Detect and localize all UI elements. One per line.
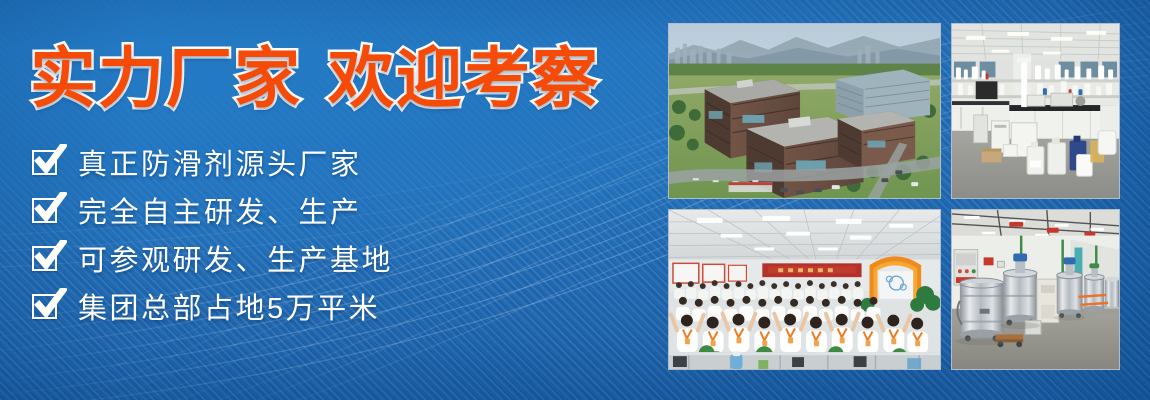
photo-production-workshop[interactable]: [951, 209, 1120, 370]
list-item: 集团总部占地5万平米: [32, 287, 393, 325]
list-item: 完全自主研发、生产: [32, 191, 393, 229]
photo-laboratory[interactable]: [951, 23, 1120, 199]
checkbox-checked-icon: [32, 292, 62, 320]
photo-grid: [668, 23, 1120, 370]
list-item-label: 集团总部占地5万平米: [78, 285, 380, 327]
checkbox-checked-icon: [32, 196, 62, 224]
text-panel: 实力厂家欢迎考察 真正防滑剂源头厂家 完全自: [0, 0, 650, 400]
checkbox-checked-icon: [32, 148, 62, 176]
promo-banner: 实力厂家欢迎考察 真正防滑剂源头厂家 完全自: [0, 0, 1150, 400]
checkbox-checked-icon: [32, 244, 62, 272]
headline-part-2: 欢迎考察: [328, 41, 600, 115]
list-item-label: 完全自主研发、生产: [78, 189, 362, 231]
feature-list: 真正防滑剂源头厂家 完全自主研发、生产 可参观研发、: [32, 143, 393, 325]
list-item-label: 真正防滑剂源头厂家: [78, 141, 362, 183]
list-item-label: 可参观研发、生产基地: [78, 237, 393, 279]
list-item: 真正防滑剂源头厂家: [32, 143, 393, 181]
headline-part-1: 实力厂家: [30, 41, 302, 115]
photo-campus-aerial[interactable]: [668, 23, 941, 199]
headline: 实力厂家欢迎考察: [30, 45, 600, 111]
list-item: 可参观研发、生产基地: [32, 239, 393, 277]
photo-team-office[interactable]: [668, 209, 941, 370]
